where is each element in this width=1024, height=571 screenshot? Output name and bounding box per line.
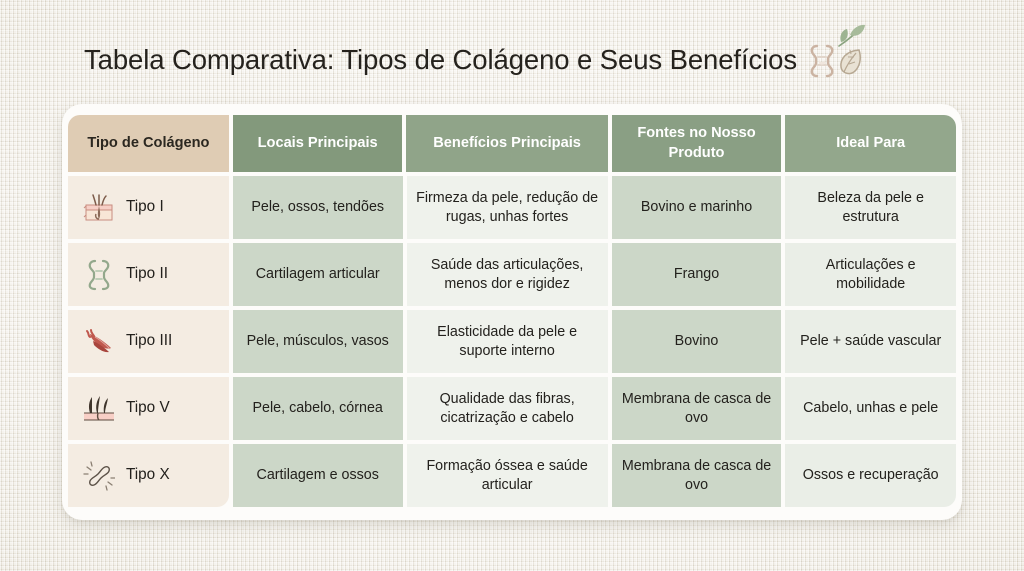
cell-beneficios-text: Elasticidade da pele e suporte interno (415, 323, 600, 361)
title-decorative-icons (809, 44, 862, 78)
cell-ideal-text: Pele + saúde vascular (800, 332, 941, 351)
cell-ideal: Articulações e mobilidade (785, 243, 956, 306)
cell-fontes-text: Membrana de casca de ovo (620, 457, 774, 495)
cell-locais: Pele, ossos, tendões (233, 176, 403, 239)
cell-ideal-text: Ossos e recuperação (803, 466, 939, 485)
column-header-tipo-de-colageno: Tipo de Colágeno (68, 115, 229, 172)
column-header-beneficios-principais: Benefícios Principais (406, 115, 607, 172)
cell-beneficios-text: Saúde das articulações, menos dor e rigi… (415, 256, 600, 294)
cell-tipo-label: Tipo III (126, 331, 172, 351)
cell-ideal: Beleza da pele e estrutura (785, 176, 956, 239)
table-header-row: Tipo de Colágeno Locais Principais Benef… (68, 115, 956, 172)
cell-beneficios: Elasticidade da pele e suporte interno (407, 310, 608, 373)
bone-healing-icon (82, 459, 116, 493)
page-title: Tabela Comparativa: Tipos de Colágeno e … (84, 40, 862, 80)
cell-beneficios-text: Firmeza da pele, redução de rugas, unhas… (415, 189, 600, 227)
comparison-table: Tipo de Colágeno Locais Principais Benef… (68, 115, 956, 507)
cell-ideal-text: Beleza da pele e estrutura (793, 189, 948, 227)
table-row: Tipo I Pele, ossos, tendões Firmeza da p… (68, 176, 956, 239)
cell-tipo-label: Tipo X (126, 465, 170, 485)
cell-fontes: Membrana de casca de ovo (612, 377, 782, 440)
hair-follicles-icon (82, 392, 116, 426)
bone-joint-icon (82, 258, 116, 292)
cell-locais: Pele, músculos, vasos (233, 310, 403, 373)
cell-ideal: Cabelo, unhas e pele (785, 377, 956, 440)
bone-joint-icon (809, 44, 835, 78)
table-row: Tipo III Pele, músculos, vasos Elasticid… (68, 310, 956, 373)
cell-locais-text: Cartilagem articular (256, 265, 380, 284)
column-header-ideal-para: Ideal Para (785, 115, 956, 172)
table-row: Tipo II Cartilagem articular Saúde das a… (68, 243, 956, 306)
cell-ideal: Ossos e recuperação (785, 444, 956, 507)
cell-tipo: Tipo III (68, 310, 229, 373)
cell-ideal-text: Articulações e mobilidade (793, 256, 948, 294)
column-header-locais-principais: Locais Principais (233, 115, 403, 172)
cell-fontes-text: Frango (674, 265, 719, 284)
cell-locais-text: Pele, músculos, vasos (247, 332, 389, 351)
cell-beneficios-text: Formação óssea e saúde articular (415, 457, 600, 495)
table-row: Tipo V Pele, cabelo, córnea Qualidade da… (68, 377, 956, 440)
leaf-sprig-icon (833, 24, 867, 48)
cell-beneficios-text: Qualidade das fibras, cicatrização e cab… (415, 390, 600, 428)
cell-tipo: Tipo II (68, 243, 229, 306)
cell-fontes: Bovino (612, 310, 782, 373)
cell-fontes-text: Membrana de casca de ovo (620, 390, 774, 428)
column-header-fontes-no-nosso-produto: Fontes no Nosso Produto (612, 115, 782, 172)
cell-tipo: Tipo V (68, 377, 229, 440)
cell-locais-text: Pele, ossos, tendões (251, 198, 384, 217)
leaf-outline-icon (838, 46, 862, 78)
cell-fontes-text: Bovino e marinho (641, 198, 752, 217)
muscle-fibers-icon (82, 325, 116, 359)
cell-locais: Cartilagem e ossos (233, 444, 403, 507)
cell-beneficios: Formação óssea e saúde articular (407, 444, 608, 507)
cell-fontes-text: Bovino (675, 332, 719, 351)
cell-ideal: Pele + saúde vascular (785, 310, 956, 373)
cell-locais-text: Cartilagem e ossos (257, 466, 379, 485)
cell-locais: Pele, cabelo, córnea (233, 377, 403, 440)
cell-locais: Cartilagem articular (233, 243, 403, 306)
cell-locais-text: Pele, cabelo, córnea (253, 399, 383, 418)
cell-beneficios: Qualidade das fibras, cicatrização e cab… (407, 377, 608, 440)
infographic-page: Tabela Comparativa: Tipos de Colágeno e … (0, 0, 1024, 571)
cell-fontes: Membrana de casca de ovo (612, 444, 782, 507)
cell-beneficios: Saúde das articulações, menos dor e rigi… (407, 243, 608, 306)
cell-fontes: Bovino e marinho (612, 176, 782, 239)
skin-layers-follicle-icon (82, 191, 116, 225)
cell-tipo-label: Tipo I (126, 197, 164, 217)
table-card: Tipo de Colágeno Locais Principais Benef… (62, 104, 962, 520)
table-row: Tipo X Cartilagem e ossos Formação óssea… (68, 444, 956, 507)
cell-beneficios: Firmeza da pele, redução de rugas, unhas… (407, 176, 608, 239)
cell-tipo: Tipo I (68, 176, 229, 239)
page-title-text: Tabela Comparativa: Tipos de Colágeno e … (84, 44, 797, 76)
cell-tipo-label: Tipo V (126, 398, 170, 418)
cell-ideal-text: Cabelo, unhas e pele (803, 399, 938, 418)
cell-tipo-label: Tipo II (126, 264, 168, 284)
cell-fontes: Frango (612, 243, 782, 306)
cell-tipo: Tipo X (68, 444, 229, 507)
